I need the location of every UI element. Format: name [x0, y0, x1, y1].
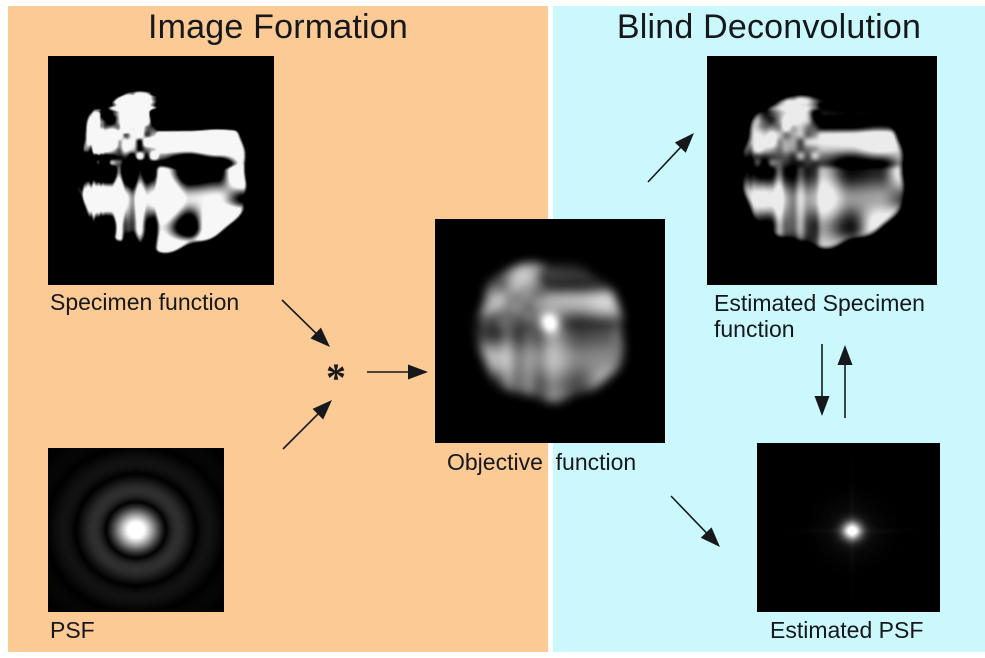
estimated-psf-image	[757, 443, 940, 612]
psf-image	[48, 448, 224, 612]
figure-root: Image Formation Blind Deconvolution Spec…	[0, 0, 985, 658]
estimated-specimen-function-image	[707, 56, 937, 285]
specimen-function-image	[48, 56, 274, 285]
estimated-specimen-function-label-line2: function	[714, 317, 795, 343]
estimated-psf-label: Estimated PSF	[770, 618, 923, 644]
convolution-operator-symbol: *	[326, 358, 346, 398]
specimen-function-label: Specimen function	[50, 290, 239, 316]
estimated-specimen-function-label-line1: Estimated Specimen	[714, 291, 925, 317]
panel-title-image-formation: Image Formation	[8, 8, 548, 47]
objective-function-image	[435, 219, 665, 443]
panel-title-blind-deconvolution: Blind Deconvolution	[553, 8, 985, 47]
psf-label: PSF	[50, 618, 95, 644]
objective-function-label: Objective function	[447, 450, 636, 476]
